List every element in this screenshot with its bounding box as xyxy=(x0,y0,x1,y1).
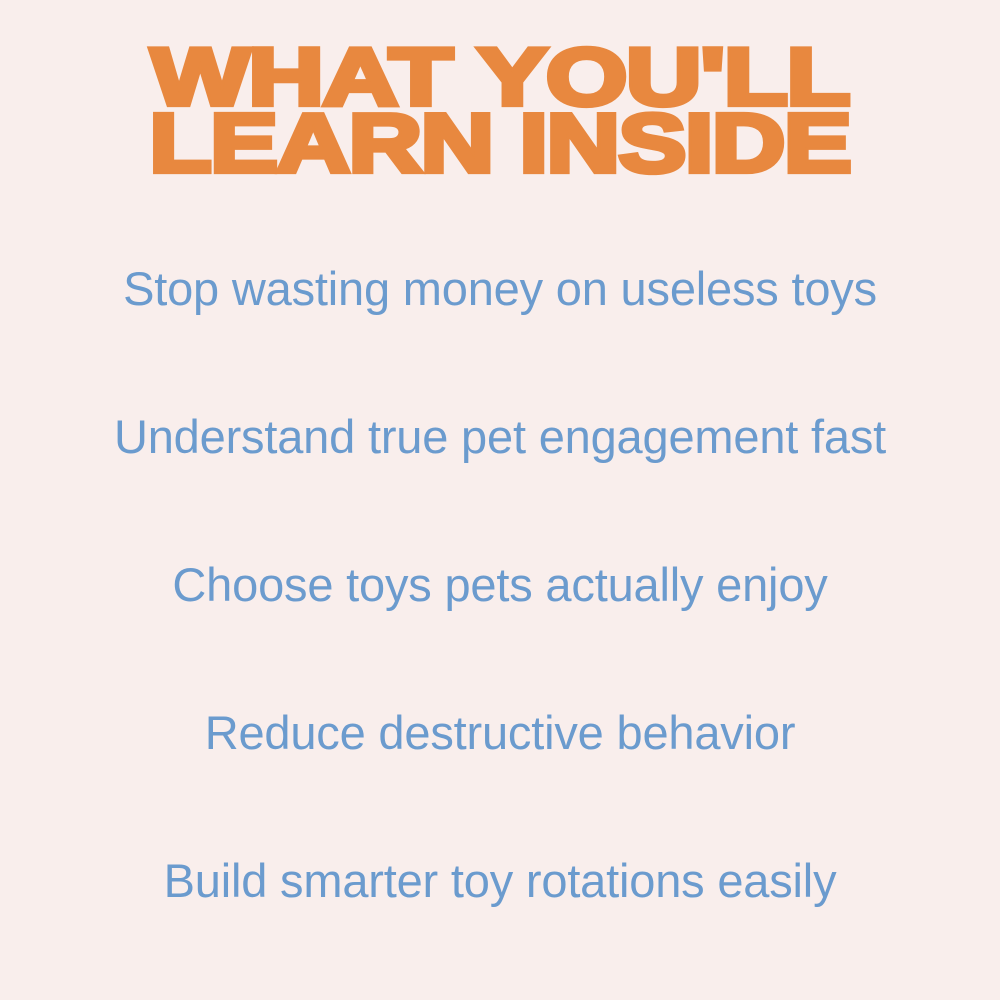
benefit-item-3: Choose toys pets actually enjoy xyxy=(0,544,1000,692)
page-title-line-2: LEARN INSIDE xyxy=(0,110,1000,178)
benefit-item-4: Reduce destructive behavior xyxy=(0,692,1000,840)
benefit-item-1: Stop wasting money on useless toys xyxy=(0,248,1000,396)
benefit-list: Stop wasting money on useless toys Under… xyxy=(0,248,1000,988)
benefit-item-5: Build smarter toy rotations easily xyxy=(0,840,1000,988)
page-title: WHAT YOU'LL LEARN INSIDE xyxy=(0,44,1000,174)
poster-canvas: WHAT YOU'LL LEARN INSIDE Stop wasting mo… xyxy=(0,0,1000,1000)
benefit-item-2: Understand true pet engagement fast xyxy=(0,396,1000,544)
